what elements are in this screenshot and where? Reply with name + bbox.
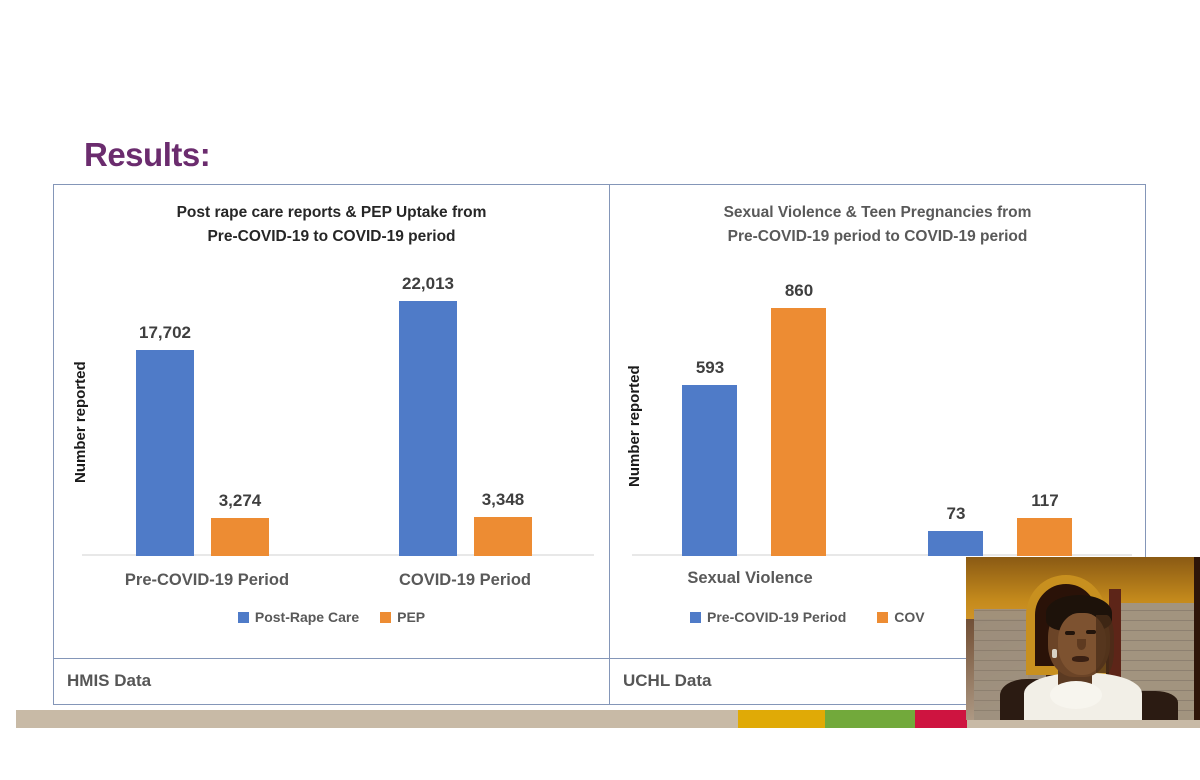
right-bar-value-label: 73 [913,504,999,524]
right-bar-value-label: 593 [667,358,753,378]
strip-segment-gold [738,710,825,728]
left-chart-cell: Post rape care reports & PEP Uptake from… [54,185,610,658]
right-bar-teen-pre-covid[interactable] [928,531,983,556]
left-bar-covid-post-rape-care[interactable] [399,301,457,556]
legend-item-pep[interactable]: PEP [380,609,425,625]
left-chart-legend: Post-Rape Care PEP [54,609,609,625]
left-chart-category-label: Pre-COVID-19 Period [102,571,312,590]
left-chart-title-line1: Post rape care reports & PEP Uptake from [72,201,591,225]
legend-item-post-rape-care[interactable]: Post-Rape Care [238,609,359,625]
legend-label: COV [894,609,924,625]
right-chart-title-line1: Sexual Violence & Teen Pregnancies from [628,201,1127,225]
video-person-eye-left [1065,631,1075,635]
legend-label: Post-Rape Care [255,609,359,625]
legend-item-covid-period[interactable]: COV [877,609,924,625]
left-chart-category-label: COVID-19 Period [360,571,570,590]
left-chart-title-line2: Pre-COVID-19 to COVID-19 period [72,225,591,249]
left-bar-pre-pep[interactable] [211,518,269,556]
video-background-dark-edge [1194,557,1200,720]
legend-swatch-orange-icon [877,612,888,623]
video-person-earring [1052,649,1057,658]
right-bar-sv-covid[interactable] [771,308,826,556]
left-bar-value-label: 3,274 [195,491,285,511]
left-bar-value-label: 22,013 [383,274,473,294]
left-bar-chart: Post rape care reports & PEP Uptake from… [54,185,609,658]
legend-label: Pre-COVID-19 Period [707,609,846,625]
video-person-eye-right [1086,630,1096,634]
page-title: Results: [84,138,210,171]
video-person-nose [1077,639,1086,650]
video-person-collar [1050,681,1102,709]
legend-item-pre-covid-period[interactable]: Pre-COVID-19 Period [690,609,846,625]
right-bar-sv-pre-covid[interactable] [682,385,737,556]
right-chart-legend: Pre-COVID-19 Period COV [690,609,925,625]
left-bar-value-label: 3,348 [458,490,548,510]
video-person-mouth [1072,656,1089,662]
strip-segment-green [825,710,915,728]
participant-video-thumbnail[interactable] [966,557,1200,720]
legend-swatch-blue-icon [238,612,249,623]
left-bar-value-label: 17,702 [120,323,210,343]
legend-swatch-orange-icon [380,612,391,623]
right-bar-value-label: 117 [1002,491,1088,511]
left-source-label: HMIS Data [54,659,609,691]
right-chart-category-label: Sexual Violence [650,569,850,588]
left-chart-title: Post rape care reports & PEP Uptake from… [54,201,609,249]
left-source-cell: HMIS Data [54,659,610,705]
strip-segment-tan [16,710,738,728]
right-chart-title-line2: Pre-COVID-19 period to COVID-19 period [628,225,1127,249]
strip-segment-crimson [915,710,967,728]
right-bar-teen-covid[interactable] [1017,518,1072,556]
left-bar-prepost-rape-care[interactable] [136,350,194,556]
legend-label: PEP [397,609,425,625]
right-chart-title: Sexual Violence & Teen Pregnancies from … [610,201,1145,249]
video-person-face-shadow [1096,615,1114,673]
legend-swatch-blue-icon [690,612,701,623]
left-bar-covid-pep[interactable] [474,517,532,556]
right-bar-value-label: 860 [756,281,842,301]
right-chart-y-axis-title: Number reported [626,307,643,487]
left-chart-y-axis-title: Number reported [72,303,89,483]
